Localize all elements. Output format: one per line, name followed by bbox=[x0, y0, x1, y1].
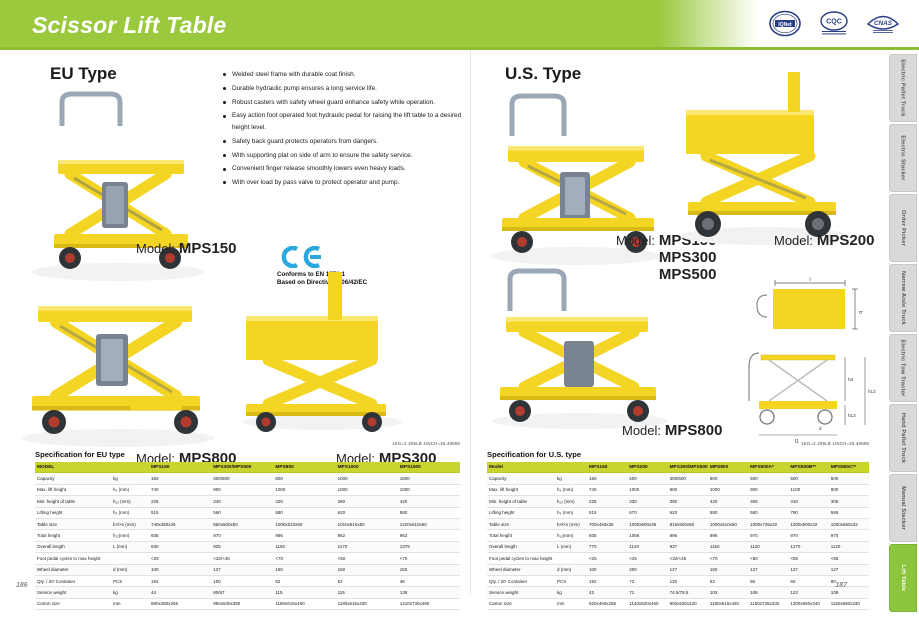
column-header: MPS150 bbox=[149, 462, 211, 473]
model-label: Model: bbox=[136, 241, 175, 256]
table-row: Capacitykg150200300/500800500500500 bbox=[487, 473, 869, 484]
table-cell: 1000 bbox=[273, 484, 335, 495]
svg-text:l: l bbox=[809, 277, 810, 283]
table-cell: 925 bbox=[211, 541, 273, 552]
table-cell: 500 bbox=[788, 473, 828, 484]
table-cell: Capacity bbox=[487, 473, 555, 484]
table-cell: 225 bbox=[149, 496, 211, 507]
table-row: Overall lengthL (mm)830925115011701379 bbox=[35, 541, 460, 552]
table-cell: 1000x510x50 bbox=[708, 518, 748, 529]
table-cell: 280 bbox=[336, 496, 398, 507]
table-cell: 970 bbox=[788, 530, 828, 541]
table-row: Qty. / 20' ContainerPCS192100525246 bbox=[35, 575, 460, 586]
table-cell: 970 bbox=[829, 530, 869, 541]
table-cell: 740x450x25 bbox=[149, 518, 211, 529]
table-cell: <55 bbox=[829, 553, 869, 564]
table-cell: Carton size bbox=[35, 598, 111, 609]
table-cell: Foot pedal cycles to max height bbox=[487, 553, 555, 564]
column-header bbox=[111, 462, 149, 473]
table-cell: 1000 bbox=[627, 484, 667, 495]
table-cell: <25 bbox=[627, 553, 667, 564]
table-cell: Qty. / 20' Container bbox=[487, 575, 555, 586]
table-row: Total heighth₁₂(mm)935105699699697097097… bbox=[487, 530, 869, 541]
model-caption-mps800-us: Model: MPS800 bbox=[622, 422, 722, 439]
table-header-row: MODEL MPS150 MPS300/MPS500 MPS800 MPS100… bbox=[35, 462, 460, 473]
table-cell: 420 bbox=[398, 496, 460, 507]
table-row: Service weightkg4480/87115115139 bbox=[35, 587, 460, 598]
table-cell: Carton size bbox=[487, 598, 555, 609]
table-cell: kg bbox=[111, 473, 149, 484]
table-cell: 1150 bbox=[708, 541, 748, 552]
table-cell: 740 bbox=[587, 484, 627, 495]
table-cell: 330 bbox=[627, 496, 667, 507]
table-cell: 1220x610x60 bbox=[398, 518, 460, 529]
table-cell: 150 bbox=[587, 473, 627, 484]
table-cell: 770 bbox=[587, 541, 627, 552]
table-cell: 500 bbox=[829, 473, 869, 484]
list-item: Robust casters with safety wheel guard e… bbox=[222, 97, 464, 109]
svg-text:h13: h13 bbox=[848, 413, 856, 418]
eu-unit-note: 1KG=2.205LB 1INCH=25.40MM bbox=[392, 441, 460, 446]
certification-logos: IQNet CQC CNAS bbox=[765, 8, 903, 38]
table-cell: 1120 bbox=[829, 541, 869, 552]
table-cell: 123 bbox=[788, 587, 828, 598]
model-label: Model: bbox=[774, 233, 813, 248]
sidebar-tab-label: Electric Pallet Truck bbox=[900, 59, 906, 116]
column-header: MPS800 bbox=[273, 462, 335, 473]
sidebar-tab-hand-pallet-truck[interactable]: Hand Pallet Truck bbox=[889, 404, 917, 472]
table-cell: Lifting height bbox=[487, 507, 555, 518]
table-cell: 595 bbox=[829, 507, 869, 518]
table-cell: 580 bbox=[748, 507, 788, 518]
table-cell: 515 bbox=[149, 507, 211, 518]
table-cell: h₃ (mm) bbox=[555, 507, 587, 518]
table-cell: 74.5/79.5 bbox=[668, 587, 708, 598]
table-cell: 127 bbox=[788, 564, 828, 575]
table-cell: 970 bbox=[748, 530, 788, 541]
sidebar-tab-order-picker[interactable]: Order Picker bbox=[889, 194, 917, 262]
table-cell: 1180x615x460 bbox=[273, 598, 335, 609]
table-row: Lifting heighth₃ (mm)5156706205805807905… bbox=[487, 507, 869, 518]
table-cell: mm bbox=[111, 598, 149, 609]
table-cell: 115 bbox=[273, 587, 335, 598]
table-row: Max. lift heighth₃ (mm)74010009001000900… bbox=[487, 484, 869, 495]
table-cell: 962 bbox=[336, 530, 398, 541]
model-label: Model: bbox=[622, 423, 661, 438]
table-cell: L (mm) bbox=[111, 541, 149, 552]
column-header: MPS500B** bbox=[788, 462, 828, 473]
cqc-certification-logo: CQC bbox=[814, 8, 854, 38]
table-cell: 515 bbox=[587, 507, 627, 518]
table-cell: 90 bbox=[748, 575, 788, 586]
list-item: With over load by pass valve to protect … bbox=[222, 177, 464, 189]
left-page: EU Type Welded steel frame with durable … bbox=[0, 50, 470, 595]
column-header: MODEL bbox=[35, 462, 111, 473]
table-cell: 44 bbox=[149, 587, 211, 598]
table-cell: 580 bbox=[398, 507, 460, 518]
table-cell: 800 bbox=[708, 473, 748, 484]
table-cell: 900x530x420 bbox=[668, 598, 708, 609]
product-image-mps200-us bbox=[670, 60, 860, 250]
eu-spec-title: Specification for EU type bbox=[35, 450, 460, 459]
product-image-mps800-us bbox=[480, 255, 680, 435]
table-cell: 150 bbox=[149, 473, 211, 484]
list-item: Welded steel frame with durable coat fin… bbox=[222, 69, 464, 81]
model-number: MPS800 bbox=[665, 422, 723, 439]
table-cell: 150 bbox=[273, 564, 335, 575]
table-cell: 790 bbox=[788, 507, 828, 518]
table-cell: L (mm) bbox=[555, 541, 587, 552]
table-cell: Service weight bbox=[35, 587, 111, 598]
table-cell: kg bbox=[111, 587, 149, 598]
table-cell: Capacity bbox=[35, 473, 111, 484]
us-spec-table-block: Specification for U.S. type 1KG=2.205LB … bbox=[487, 450, 869, 610]
table-cell: 620 bbox=[668, 507, 708, 518]
table-cell: 900 bbox=[668, 484, 708, 495]
table-cell: 300/500 bbox=[211, 473, 273, 484]
table-row: Qty. / 20' ContainerPCS1927212052906090 bbox=[487, 575, 869, 586]
table-cell: 1500 bbox=[398, 473, 460, 484]
table-cell: Wheel diameter bbox=[487, 564, 555, 575]
table-cell: <32/<45 bbox=[211, 553, 273, 564]
svg-text:l1: l1 bbox=[795, 439, 799, 445]
table-cell: h₃ (mm) bbox=[111, 507, 149, 518]
sidebar-tab-label: Electric Stacker bbox=[900, 135, 906, 180]
model-number: MPS200 bbox=[817, 232, 875, 249]
table-cell: 192 bbox=[587, 575, 627, 586]
table-cell: 880x480x265 bbox=[149, 598, 211, 609]
column-header: MPS500C** bbox=[829, 462, 869, 473]
table-cell: Table size bbox=[487, 518, 555, 529]
table-cell: 1000 bbox=[398, 484, 460, 495]
table-row: Table sizeb×l×s (mm)700x450x351000x600x3… bbox=[487, 518, 869, 529]
table-row: Min. height of tableh₁₃ (mm)225340420280… bbox=[35, 496, 460, 507]
svg-text:h12: h12 bbox=[868, 389, 876, 394]
table-cell: <32/<45 bbox=[668, 553, 708, 564]
table-cell: 150 bbox=[708, 564, 748, 575]
table-cell: PCS bbox=[555, 575, 587, 586]
catalog-page: Scissor Lift Table IQNet CQC bbox=[0, 0, 919, 627]
table-cell: 996 bbox=[273, 530, 335, 541]
svg-text:CQC: CQC bbox=[826, 18, 842, 25]
model-label: Model: bbox=[616, 233, 655, 248]
sidebar-tab-electric-tow-tractor[interactable]: Electric Tow Tractor bbox=[889, 334, 917, 402]
table-cell: h₁₂(mm) bbox=[555, 530, 587, 541]
table-cell: 1379 bbox=[398, 541, 460, 552]
table-cell: h₃ (mm) bbox=[111, 484, 149, 495]
table-cell: 935 bbox=[149, 530, 211, 541]
table-cell: 420 bbox=[708, 496, 748, 507]
table-cell: 1000 bbox=[336, 473, 398, 484]
table-cell: 1010x510x50 bbox=[336, 518, 398, 529]
sidebar-tab-electric-pallet-truck[interactable]: Electric Pallet Truck bbox=[889, 54, 917, 122]
column-header bbox=[555, 462, 587, 473]
table-cell: 830 bbox=[149, 541, 211, 552]
table-cell: Max. lift height bbox=[35, 484, 111, 495]
table-cell: 52 bbox=[708, 575, 748, 586]
feature-list: Welded steel frame with durable coat fin… bbox=[222, 69, 464, 191]
column-header: MPS200 bbox=[627, 462, 667, 473]
table-cell: 1150x680x330 bbox=[829, 598, 869, 609]
table-cell: h₃ (mm) bbox=[555, 484, 587, 495]
svg-text:h3: h3 bbox=[848, 377, 854, 382]
column-header: MPS500A* bbox=[748, 462, 788, 473]
table-cell: 970 bbox=[211, 530, 273, 541]
table-cell: 150 bbox=[336, 564, 398, 575]
model-caption-mps150-eu: Model: MPS150 bbox=[136, 240, 236, 257]
column-header: MPS800 bbox=[708, 462, 748, 473]
table-cell: 150 bbox=[398, 564, 460, 575]
sidebar-tab-label: Lift Table bbox=[900, 565, 906, 591]
table-cell: mm bbox=[555, 598, 587, 609]
table-cell: 1000x650x32 bbox=[829, 518, 869, 529]
list-item: Durable hydraulic pump ensures a long se… bbox=[222, 83, 464, 95]
iqnet-certification-logo: IQNet bbox=[765, 8, 805, 38]
table-row: Lifting heighth₃ (mm)515560580620580 bbox=[35, 507, 460, 518]
table-row: Carton sizemm880x480x265950x530x3901180x… bbox=[35, 598, 460, 609]
table-cell: 580 bbox=[273, 507, 335, 518]
sidebar-tab-label: Manual Stacker bbox=[900, 486, 906, 530]
table-cell: 996 bbox=[668, 530, 708, 541]
table-cell: 103 bbox=[708, 587, 748, 598]
svg-text:CNAS: CNAS bbox=[874, 20, 893, 27]
table-cell: 670 bbox=[627, 507, 667, 518]
table-row: Capacitykg150300/50080010001500 bbox=[35, 473, 460, 484]
table-row: Wheel diameterd (mm)100127150150150 bbox=[35, 564, 460, 575]
table-cell: 300/500 bbox=[668, 473, 708, 484]
table-cell: <25 bbox=[149, 553, 211, 564]
dimension-drawings: l b h3 h12 h13 bbox=[745, 275, 885, 450]
table-cell: 127 bbox=[668, 564, 708, 575]
table-cell: 560 bbox=[211, 507, 273, 518]
column-header: Model bbox=[487, 462, 555, 473]
table-cell: 962 bbox=[398, 530, 460, 541]
eu-type-heading: EU Type bbox=[50, 64, 117, 84]
table-cell: 1150x735x330 bbox=[748, 598, 788, 609]
table-cell: 620 bbox=[336, 507, 398, 518]
table-cell: Table size bbox=[35, 518, 111, 529]
us-spec-table: Model MPS150 MPS200 MPS300/MPS500 MPS800… bbox=[487, 462, 869, 610]
table-cell: 1000x735x32 bbox=[748, 518, 788, 529]
table-header-row: Model MPS150 MPS200 MPS300/MPS500 MPS800… bbox=[487, 462, 869, 473]
table-cell: 115 bbox=[336, 587, 398, 598]
table-cell: 815x500x50 bbox=[668, 518, 708, 529]
category-sidebar: Electric Pallet TruckElectric StackerOrd… bbox=[889, 50, 919, 627]
table-cell: 127 bbox=[829, 564, 869, 575]
svg-text:b: b bbox=[857, 311, 863, 314]
table-cell: <55 bbox=[788, 553, 828, 564]
sidebar-tab-label: Hand Pallet Truck bbox=[900, 413, 906, 463]
table-cell: 100 bbox=[587, 564, 627, 575]
table-cell: Overall length bbox=[35, 541, 111, 552]
table-cell: 1056 bbox=[627, 530, 667, 541]
table-cell: PCS bbox=[111, 575, 149, 586]
table-cell: 340 bbox=[211, 496, 273, 507]
list-item: Convenient finger release smoothly lower… bbox=[222, 163, 464, 175]
table-cell: 937 bbox=[668, 541, 708, 552]
page-number-right: 187 bbox=[835, 582, 847, 589]
table-cell: Foot pedal cycles to max height bbox=[35, 553, 111, 564]
column-header: MPS150 bbox=[587, 462, 627, 473]
table-cell: 42 bbox=[587, 587, 627, 598]
list-item: With supporting plat on side of arm to e… bbox=[222, 150, 464, 162]
eu-spec-table-block: Specification for EU type 1KG=2.205LB 1I… bbox=[35, 450, 460, 610]
table-cell: 192 bbox=[149, 575, 211, 586]
table-cell: 120 bbox=[668, 575, 708, 586]
table-cell: 1170 bbox=[336, 541, 398, 552]
table-cell: Wheel diameter bbox=[35, 564, 111, 575]
table-cell: 1000x800x32 bbox=[788, 518, 828, 529]
table-cell: 500 bbox=[748, 473, 788, 484]
table-cell: d (mm) bbox=[555, 564, 587, 575]
table-cell: 100 bbox=[149, 564, 211, 575]
table-cell: 1000 bbox=[336, 484, 398, 495]
table-cell: Service weight bbox=[487, 587, 555, 598]
table-cell: 127 bbox=[211, 564, 273, 575]
table-cell: 100 bbox=[211, 575, 273, 586]
list-item: Easy action foot operated foot hydraulic… bbox=[222, 110, 464, 133]
table-cell: h₁₂(mm) bbox=[111, 530, 149, 541]
sidebar-tab-label: Electric Tow Tractor bbox=[900, 339, 906, 396]
table-cell: Max. lift height bbox=[487, 484, 555, 495]
table-row: Foot pedal cycles to max height<25<25<32… bbox=[487, 553, 869, 564]
table-row: Max. lift heighth₃ (mm)74090010001000100… bbox=[35, 484, 460, 495]
table-cell: 60 bbox=[788, 575, 828, 586]
table-row: Table sizeb×l×s (mm)740x450x25850x500x50… bbox=[35, 518, 460, 529]
table-row: Foot pedal cycles to max height<25<32/<4… bbox=[35, 553, 460, 564]
sidebar-tab-narrow-aisle-truck[interactable]: Narrow Aisle Truck bbox=[889, 264, 917, 332]
table-cell: <25 bbox=[587, 553, 627, 564]
model-number: MPS150 bbox=[179, 240, 237, 257]
right-page: U.S. Type Model: M bbox=[470, 50, 885, 595]
table-cell: d (mm) bbox=[111, 564, 149, 575]
table-row: Total heighth₁₂(mm)935970996962962 bbox=[35, 530, 460, 541]
table-cell: <70 bbox=[273, 553, 335, 564]
table-cell: 420 bbox=[273, 496, 335, 507]
cnas-certification-logo: CNAS bbox=[863, 8, 903, 38]
table-cell: 305 bbox=[748, 496, 788, 507]
table-cell: 139 bbox=[398, 587, 460, 598]
table-cell: 1000x600x35 bbox=[627, 518, 667, 529]
model-caption-mps200-us: Model: MPS200 bbox=[774, 232, 874, 249]
table-cell: 1180x615x430 bbox=[336, 598, 398, 609]
table-cell: Min. height of table bbox=[487, 496, 555, 507]
page-header: Scissor Lift Table IQNet CQC bbox=[0, 0, 919, 47]
table-row: Service weightkg427174.5/79.510310812310… bbox=[487, 587, 869, 598]
table-row: Wheel diameterd (mm)10020012715012712712… bbox=[487, 564, 869, 575]
eu-spec-table: MODEL MPS150 MPS300/MPS500 MPS800 MPS100… bbox=[35, 462, 460, 610]
table-cell bbox=[111, 553, 149, 564]
table-cell: 1000x510x50 bbox=[273, 518, 335, 529]
table-cell: 46 bbox=[398, 575, 460, 586]
table-cell: 225 bbox=[587, 496, 627, 507]
table-cell: Overall length bbox=[487, 541, 555, 552]
svg-text:d: d bbox=[819, 426, 822, 431]
table-cell: Total height bbox=[35, 530, 111, 541]
table-cell: 850x500x50 bbox=[211, 518, 273, 529]
table-cell: 52 bbox=[273, 575, 335, 586]
product-image-mps800-eu bbox=[10, 262, 225, 452]
table-cell: h₁₃ (mm) bbox=[111, 496, 149, 507]
list-item: Safety back guard protects operators fro… bbox=[222, 136, 464, 148]
svg-text:IQNet: IQNet bbox=[778, 21, 792, 27]
us-unit-note: 1KG=2.205LB 1INCH=25.40MM bbox=[801, 441, 869, 446]
table-cell: 900 bbox=[829, 484, 869, 495]
table-cell: 1100 bbox=[788, 484, 828, 495]
table-cell: 996 bbox=[708, 530, 748, 541]
table-cell: 108 bbox=[748, 587, 788, 598]
table-cell: Total height bbox=[487, 530, 555, 541]
sidebar-tab-label: Narrow Aisle Truck bbox=[900, 271, 906, 325]
table-cell: <50 bbox=[336, 553, 398, 564]
table-cell: 1300x650x340 bbox=[788, 598, 828, 609]
table-cell: kg bbox=[555, 587, 587, 598]
sidebar-tab-label: Order Picker bbox=[900, 210, 906, 246]
table-cell: 310 bbox=[788, 496, 828, 507]
table-row: Carton sizemm920x460x2651140x620x460900x… bbox=[487, 598, 869, 609]
table-cell: 1270 bbox=[788, 541, 828, 552]
table-cell: 305 bbox=[829, 496, 869, 507]
table-cell: 127 bbox=[748, 564, 788, 575]
table-cell: 1120 bbox=[627, 541, 667, 552]
table-cell: 800 bbox=[273, 473, 335, 484]
table-cell: 580 bbox=[708, 507, 748, 518]
table-cell: b×l×s (mm) bbox=[555, 518, 587, 529]
table-row: Min. height of tableh₁₃ (mm)225330390420… bbox=[487, 496, 869, 507]
table-cell: 390 bbox=[668, 496, 708, 507]
page-number-left: 186 bbox=[16, 582, 28, 589]
table-cell: <70 bbox=[398, 553, 460, 564]
table-cell: 935 bbox=[587, 530, 627, 541]
table-cell: <50 bbox=[748, 553, 788, 564]
table-cell: 900 bbox=[748, 484, 788, 495]
table-cell: h₁₃ (mm) bbox=[555, 496, 587, 507]
table-cell: 1140x620x460 bbox=[627, 598, 667, 609]
table-cell bbox=[555, 553, 587, 564]
table-cell: 950x530x390 bbox=[211, 598, 273, 609]
table-cell: <70 bbox=[708, 553, 748, 564]
table-cell: 71 bbox=[627, 587, 667, 598]
table-cell: 1120 bbox=[748, 541, 788, 552]
sidebar-tab-manual-stacker[interactable]: Manual Stacker bbox=[889, 474, 917, 542]
table-row: Overall lengthL (mm)77011209371150112012… bbox=[487, 541, 869, 552]
table-cell: b×l×s (mm) bbox=[111, 518, 149, 529]
us-spec-title: Specification for U.S. type bbox=[487, 450, 869, 459]
table-cell: 900 bbox=[211, 484, 273, 495]
table-cell: 200 bbox=[627, 564, 667, 575]
table-cell: Min. height of table bbox=[35, 496, 111, 507]
column-header: MPS300/MPS500 bbox=[211, 462, 273, 473]
table-cell: Qty. / 20' Container bbox=[35, 575, 111, 586]
table-cell: 700x450x35 bbox=[587, 518, 627, 529]
sidebar-tab-lift-table[interactable]: Lift Table bbox=[889, 544, 917, 612]
table-cell: kg bbox=[555, 473, 587, 484]
sidebar-tab-electric-stacker[interactable]: Electric Stacker bbox=[889, 124, 917, 192]
table-cell: 52 bbox=[336, 575, 398, 586]
table-cell: 200 bbox=[627, 473, 667, 484]
table-cell: 740 bbox=[149, 484, 211, 495]
column-header: MPS1500 bbox=[398, 462, 460, 473]
page-title: Scissor Lift Table bbox=[32, 12, 226, 39]
table-cell: 1180x615x460 bbox=[708, 598, 748, 609]
product-image-mps300-eu bbox=[232, 256, 412, 436]
table-cell: 1150 bbox=[273, 541, 335, 552]
column-header: MPS1000 bbox=[336, 462, 398, 473]
table-cell: 1000 bbox=[708, 484, 748, 495]
table-cell: 1410x730x490 bbox=[398, 598, 460, 609]
column-header: MPS300/MPS500 bbox=[668, 462, 708, 473]
table-cell: 920x460x265 bbox=[587, 598, 627, 609]
